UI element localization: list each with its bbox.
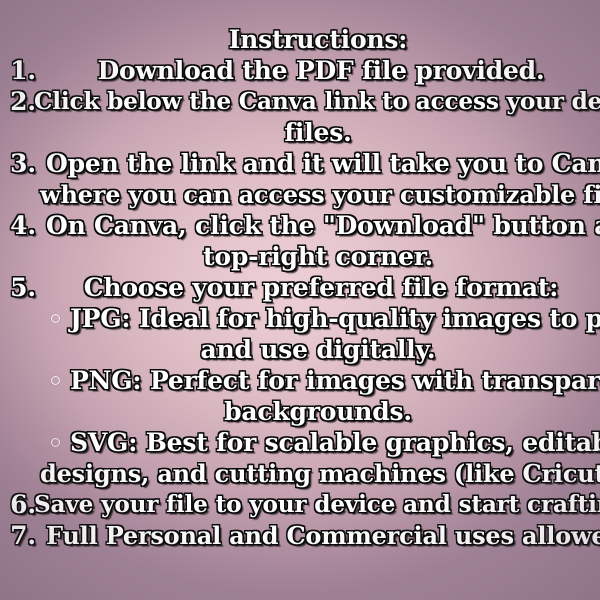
list-marker-5: 5.: [0, 272, 46, 303]
page-title: Instructions:: [0, 24, 600, 55]
sub-list-item-svg-text: SVG: Best for scalable graphics, editabl…: [0, 427, 600, 458]
list-item-2-continuation: files.: [0, 117, 600, 148]
sub-list-item-jpg-continuation-text: and use digitally.: [0, 334, 600, 365]
list-item-7-text: Full Personal and Commercial uses allowe…: [0, 520, 600, 551]
list-item-1-text: Download the PDF file provided.: [0, 55, 600, 86]
page-title-text: Instructions:: [0, 24, 600, 55]
instructions-text-block: Instructions: 1. Download the PDF file p…: [0, 0, 600, 551]
list-marker-7: 7.: [0, 520, 46, 551]
sub-list-item-png-text: PNG: Perfect for images with transparent: [0, 365, 600, 396]
list-item-2-continuation-text: files.: [0, 117, 600, 148]
sub-list-item-svg-continuation: designs, and cutting machines (like Cric…: [0, 458, 600, 489]
list-item-4-continuation-text: top-right corner.: [0, 241, 600, 272]
list-item-4: 4. On Canva, click the "Download" button…: [0, 210, 600, 241]
list-item-5: 5. Choose your preferred file format:: [0, 272, 600, 303]
list-marker-6: 6.: [0, 489, 46, 520]
list-item-7: 7. Full Personal and Commercial uses all…: [0, 520, 600, 551]
sub-list-item-jpg: JPG: Ideal for high-quality images to pr…: [0, 303, 600, 334]
sub-list-item-png-continuation-text: backgrounds.: [0, 396, 600, 427]
bullet-icon: [40, 303, 70, 334]
sub-list-item-jpg-continuation: and use digitally.: [0, 334, 600, 365]
bullet-icon: [40, 365, 70, 396]
list-item-1: 1. Download the PDF file provided.: [0, 55, 600, 86]
list-marker-3: 3.: [0, 148, 46, 179]
list-item-6: 6. Save your file to your device and sta…: [0, 489, 600, 520]
bullet-icon: [40, 427, 70, 458]
list-item-2: 2. Click below the Canva link to access …: [0, 86, 600, 117]
sub-list-item-jpg-text: JPG: Ideal for high-quality images to pr…: [0, 303, 600, 334]
list-item-5-text: Choose your preferred file format:: [0, 272, 600, 303]
sub-list-item-png-continuation: backgrounds.: [0, 396, 600, 427]
list-item-2-text: Click below the Canva link to access you…: [0, 86, 600, 117]
list-item-3-continuation-text: where you can access your customizable f…: [0, 179, 600, 210]
list-marker-1: 1.: [0, 55, 46, 86]
list-item-4-continuation: top-right corner.: [0, 241, 600, 272]
instructions-graphic: Instructions: 1. Download the PDF file p…: [0, 0, 600, 600]
list-item-3: 3. Open the link and it will take you to…: [0, 148, 600, 179]
list-marker-2: 2.: [0, 86, 46, 117]
sub-list-item-svg-continuation-text: designs, and cutting machines (like Cric…: [0, 458, 600, 489]
sub-list-item-png: PNG: Perfect for images with transparent: [0, 365, 600, 396]
list-item-6-text: Save your file to your device and start …: [0, 489, 600, 520]
list-item-4-text: On Canva, click the "Download" button at…: [0, 210, 600, 241]
sub-list-item-svg: SVG: Best for scalable graphics, editabl…: [0, 427, 600, 458]
list-item-3-text: Open the link and it will take you to Ca…: [0, 148, 600, 179]
list-marker-4: 4.: [0, 210, 46, 241]
list-item-3-continuation: where you can access your customizable f…: [0, 179, 600, 210]
